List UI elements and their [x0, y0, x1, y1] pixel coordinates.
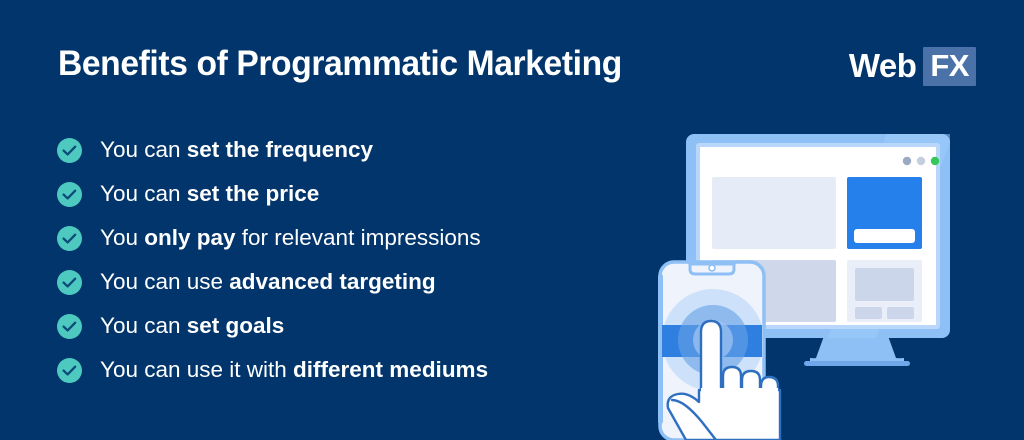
check-circle-icon [57, 358, 82, 383]
logo-badge-text: FX [930, 48, 969, 84]
content-card-chip-1 [855, 307, 882, 319]
window-dot-green [931, 157, 939, 165]
window-dot-gray-2 [917, 157, 925, 165]
list-item-label: You only pay for relevant impressions [100, 224, 481, 252]
list-item-label: You can set goals [100, 312, 284, 340]
list-item-label: You can set the price [100, 180, 319, 208]
check-circle-icon [57, 138, 82, 163]
list-item: You can set goals [57, 304, 657, 348]
logo-wordmark: Web [849, 46, 917, 86]
content-card-thumb [855, 268, 914, 301]
benefits-list: You can set the frequency You can set th… [57, 128, 657, 392]
window-dot-gray-1 [903, 157, 911, 165]
check-circle-icon [57, 226, 82, 251]
hand-palm [668, 390, 780, 440]
ad-panel-button [854, 229, 915, 243]
content-card-chip-2 [887, 307, 914, 319]
check-circle-icon [57, 182, 82, 207]
check-circle-icon [57, 314, 82, 339]
programmatic-devices-illustration [628, 118, 1024, 440]
monitor-stand-base-bar [804, 361, 910, 366]
list-item: You can set the price [57, 172, 657, 216]
list-item: You can set the frequency [57, 128, 657, 172]
content-block-hero [712, 177, 836, 249]
list-item: You only pay for relevant impressions [57, 216, 657, 260]
hand-index-finger [701, 321, 721, 392]
list-item: You can use advanced targeting [57, 260, 657, 304]
infographic-canvas: Benefits of Programmatic Marketing Web F… [0, 0, 1024, 440]
list-item-label: You can use it with different mediums [100, 356, 488, 384]
list-item-label: You can use advanced targeting [100, 268, 436, 296]
page-title: Benefits of Programmatic Marketing [58, 42, 622, 86]
check-circle-icon [57, 270, 82, 295]
logo-badge: FX [923, 47, 976, 86]
list-item: You can use it with different mediums [57, 348, 657, 392]
webfx-logo: Web FX [849, 46, 976, 86]
phone-camera-dot [709, 265, 715, 271]
list-item-label: You can set the frequency [100, 136, 373, 164]
